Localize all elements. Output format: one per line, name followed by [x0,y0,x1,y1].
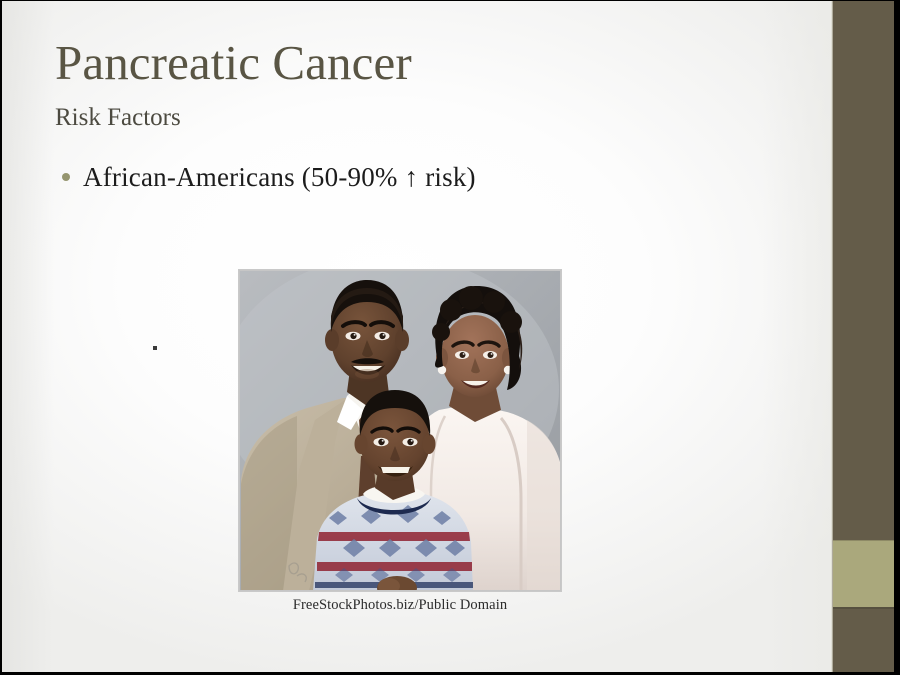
list-item: African-Americans (50-90% ↑ risk) [62,162,702,193]
stray-mark [153,346,157,350]
bullet-list: African-Americans (50-90% ↑ risk) [62,162,702,193]
family-portrait-photo [239,270,561,591]
slide-title: Pancreatic Cancer [55,38,412,89]
bullet-point-icon [62,173,70,181]
side-band-accent-block [833,541,898,608]
side-band-accent-bottom-edge [833,607,898,609]
slide-subtitle: Risk Factors [55,104,181,132]
presentation-slide: Pancreatic Cancer Risk Factors African-A… [0,0,900,675]
photo-frame [239,270,561,591]
bullet-item-label: African-Americans (50-90% ↑ risk) [83,162,476,193]
photo-caption: FreeStockPhotos.biz/Public Domain [239,597,561,614]
slide-right-border [894,0,900,675]
